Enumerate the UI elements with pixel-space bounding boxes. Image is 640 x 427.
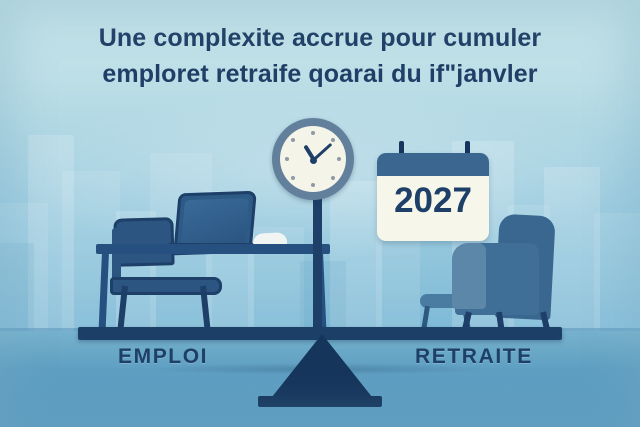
clock-tick bbox=[331, 176, 335, 180]
seesaw-right-label: RETRAITE bbox=[415, 345, 533, 369]
illustration-canvas: 2027 EMPLOI RETRAITE Une complexite accr… bbox=[0, 0, 640, 427]
armchair-armrest bbox=[452, 243, 486, 309]
headline-line-1: Une complexite accrue pour cumuler bbox=[99, 24, 541, 52]
desk-surface bbox=[96, 244, 330, 254]
clock-tick bbox=[311, 131, 315, 135]
clock-center-cap bbox=[310, 157, 317, 164]
clock-tick bbox=[285, 157, 289, 161]
clock-face bbox=[280, 126, 346, 192]
clock-post bbox=[313, 196, 322, 328]
calendar-body: 2027 bbox=[377, 153, 489, 241]
calendar-header-band bbox=[377, 153, 489, 176]
clock-icon bbox=[272, 118, 354, 200]
chair-side-panel bbox=[112, 228, 121, 284]
headline-line-2: emploret retraife qoarai du if"janvler bbox=[0, 56, 640, 92]
chair-backrest bbox=[113, 217, 174, 267]
fulcrum-base bbox=[258, 396, 382, 407]
clock-tick bbox=[331, 138, 335, 142]
calendar-year-label: 2027 bbox=[377, 181, 489, 221]
clock-tick bbox=[337, 157, 341, 161]
clock-tick bbox=[291, 138, 295, 142]
clock-tick bbox=[291, 176, 295, 180]
clock-tick bbox=[311, 183, 315, 187]
seesaw-left-label: EMPLOI bbox=[118, 345, 208, 369]
triangle-fulcrum-icon bbox=[268, 334, 376, 402]
headline: Une complexite accrue pour cumuler emplo… bbox=[0, 20, 640, 92]
